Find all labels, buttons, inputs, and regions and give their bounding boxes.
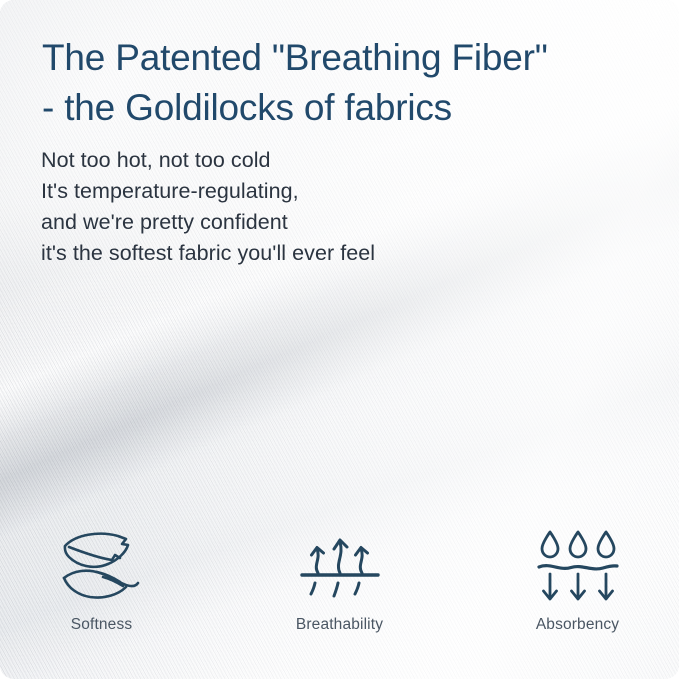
feather-on-hand-icon: [56, 528, 148, 604]
headline-line-1: The Patented "Breathing Fiber": [42, 33, 642, 83]
feature-label-breathability: Breathability: [296, 616, 383, 634]
subcopy-line-2: It's temperature-regulating,: [41, 176, 601, 207]
headline-line-2: - the Goldilocks of fabrics: [42, 83, 642, 133]
feature-item-softness: Softness: [32, 528, 172, 634]
water-droplets-absorb-icon: [534, 528, 622, 604]
feature-icon-row: Softness: [0, 528, 679, 634]
subcopy-line-4: it's the softest fabric you'll ever feel: [41, 238, 601, 269]
feature-label-absorbency: Absorbency: [536, 616, 619, 634]
subcopy-line-3: and we're pretty confident: [41, 207, 601, 238]
product-feature-card: The Patented "Breathing Fiber" - the Gol…: [0, 0, 679, 679]
subheading-copy: Not too hot, not too cold It's temperatu…: [41, 145, 601, 269]
page-title: The Patented "Breathing Fiber" - the Gol…: [42, 33, 642, 133]
feature-item-absorbency: Absorbency: [508, 528, 648, 634]
rising-airflow-arrows-icon: [298, 528, 382, 604]
subcopy-line-1: Not too hot, not too cold: [41, 145, 601, 176]
feature-item-breathability: Breathability: [270, 528, 410, 634]
feature-label-softness: Softness: [71, 616, 133, 634]
